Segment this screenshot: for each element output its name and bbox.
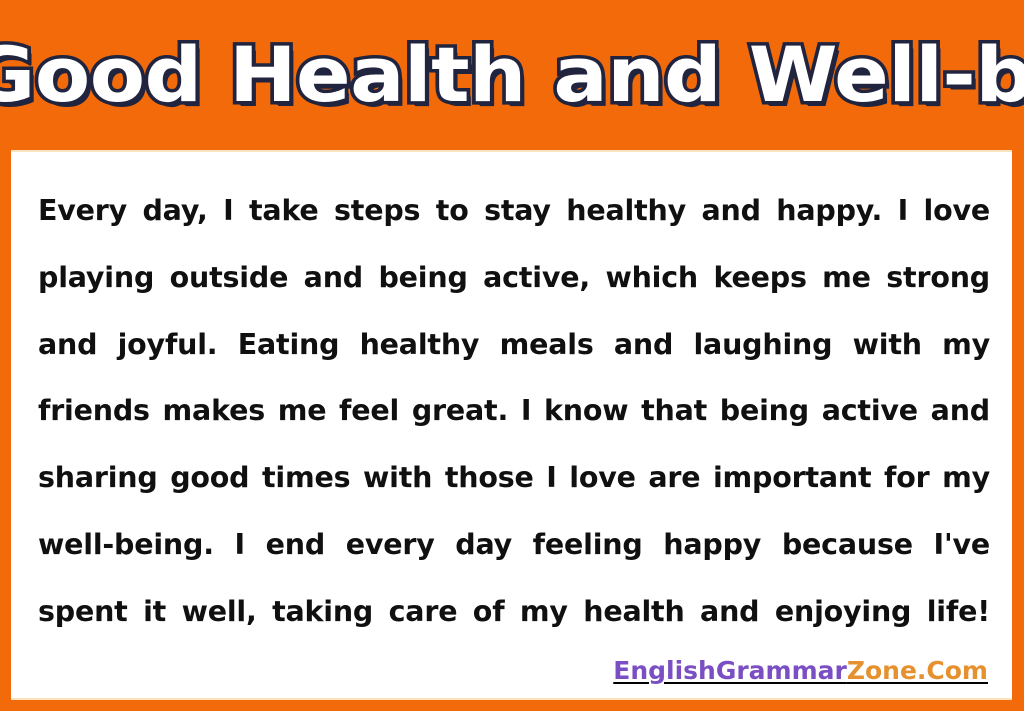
brand-secondary-text: Zone.Com [847, 656, 988, 685]
brand-primary-text: EnglishGrammar [613, 656, 847, 685]
content-card: Every day, I take steps to stay healthy … [11, 150, 1012, 700]
brand-link[interactable]: EnglishGrammarZone.Com [613, 656, 988, 685]
footer-brand: EnglishGrammarZone.Com [613, 658, 988, 684]
poster-container: Good Health and Well-being Every day, I … [0, 0, 1024, 711]
page-title: Good Health and Well-being [0, 37, 1024, 113]
body-paragraph: Every day, I take steps to stay healthy … [38, 178, 990, 711]
poster-header-band: Good Health and Well-being [0, 0, 1024, 150]
